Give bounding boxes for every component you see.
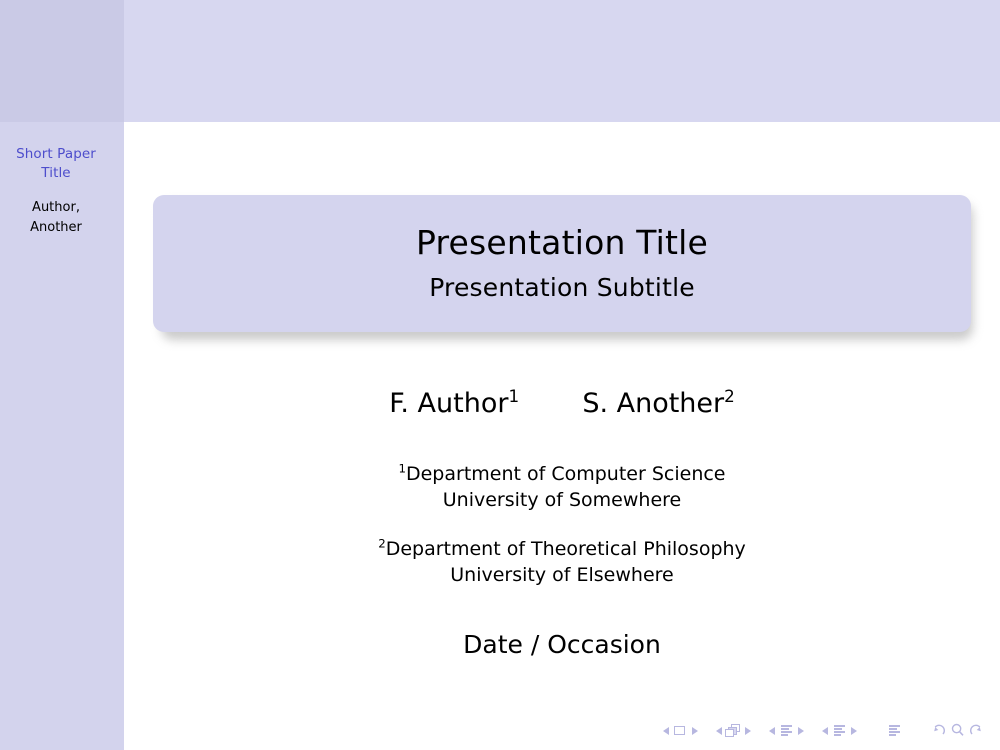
slide-navigation-group — [660, 724, 701, 738]
document-lines-icon[interactable] — [778, 724, 795, 738]
sidebar-short-author: Author, Another — [0, 198, 112, 238]
title-slide-content: F. Author1 S. Another2 1Department of Co… — [124, 332, 1000, 658]
presentation-slide: Short Paper Title Author, Another Presen… — [0, 0, 1000, 750]
page-subtitle: Presentation Subtitle — [429, 274, 695, 303]
affiliation-institution: University of Elsewhere — [124, 562, 1000, 588]
sidebar-short-author-line2: Another — [0, 218, 112, 238]
date-occasion: Date / Occasion — [124, 631, 1000, 659]
affiliation-department-line: 1Department of Computer Science — [124, 461, 1000, 487]
affiliation-department-line: 2Department of Theoretical Philosophy — [124, 536, 1000, 562]
magnifier-icon[interactable] — [950, 722, 965, 741]
history-navigation-group — [929, 722, 986, 741]
page-title: Presentation Title — [416, 224, 708, 262]
arrow-back-icon[interactable] — [931, 722, 946, 741]
sidebar-short-title-line2: Title — [0, 164, 112, 183]
affiliation-mark: 2 — [378, 536, 386, 550]
affiliation-department: Department of Theoretical Philosophy — [386, 538, 746, 560]
author-name: F. Author — [389, 388, 508, 419]
sidebar: Short Paper Title Author, Another — [0, 0, 124, 750]
triangle-right-icon[interactable] — [745, 727, 751, 735]
arrow-forward-icon[interactable] — [969, 722, 984, 741]
sidebar-short-title-line1: Short Paper — [0, 145, 112, 164]
affiliation-block: 1Department of Computer Science Universi… — [124, 461, 1000, 513]
triangle-right-icon[interactable] — [692, 727, 698, 735]
subsection-navigation-group — [766, 724, 807, 738]
square-icon[interactable] — [672, 724, 689, 738]
section-navigation-group — [819, 724, 860, 738]
affiliation-mark: 1 — [398, 461, 406, 475]
affiliation-block: 2Department of Theoretical Philosophy Un… — [124, 536, 1000, 588]
document-lines-icon[interactable] — [886, 724, 903, 738]
document-lines-icon[interactable] — [831, 724, 848, 738]
sidebar-header-block — [0, 0, 124, 122]
header-band — [124, 0, 1000, 122]
sidebar-short-title: Short Paper Title — [0, 145, 112, 183]
author-affiliation-mark: 1 — [508, 386, 519, 406]
affiliation-institution: University of Somewhere — [124, 487, 1000, 513]
triangle-left-icon[interactable] — [663, 727, 669, 735]
triangle-right-icon[interactable] — [798, 727, 804, 735]
navigation-symbols — [660, 720, 986, 742]
author-entry: F. Author1 — [389, 389, 519, 419]
author-list: F. Author1 S. Another2 — [124, 389, 1000, 419]
author-name: S. Another — [582, 388, 724, 419]
title-block: Presentation Title Presentation Subtitle — [153, 195, 971, 332]
presentation-document-group — [886, 724, 903, 738]
triangle-left-icon[interactable] — [716, 727, 722, 735]
frames-stack-icon[interactable] — [725, 724, 742, 738]
triangle-left-icon[interactable] — [769, 727, 775, 735]
sidebar-short-author-line1: Author, — [0, 198, 112, 218]
triangle-left-icon[interactable] — [822, 727, 828, 735]
author-affiliation-mark: 2 — [724, 386, 735, 406]
affiliation-department: Department of Computer Science — [406, 463, 726, 485]
frame-navigation-group — [713, 724, 754, 738]
triangle-right-icon[interactable] — [851, 727, 857, 735]
author-entry: S. Another2 — [582, 389, 734, 419]
